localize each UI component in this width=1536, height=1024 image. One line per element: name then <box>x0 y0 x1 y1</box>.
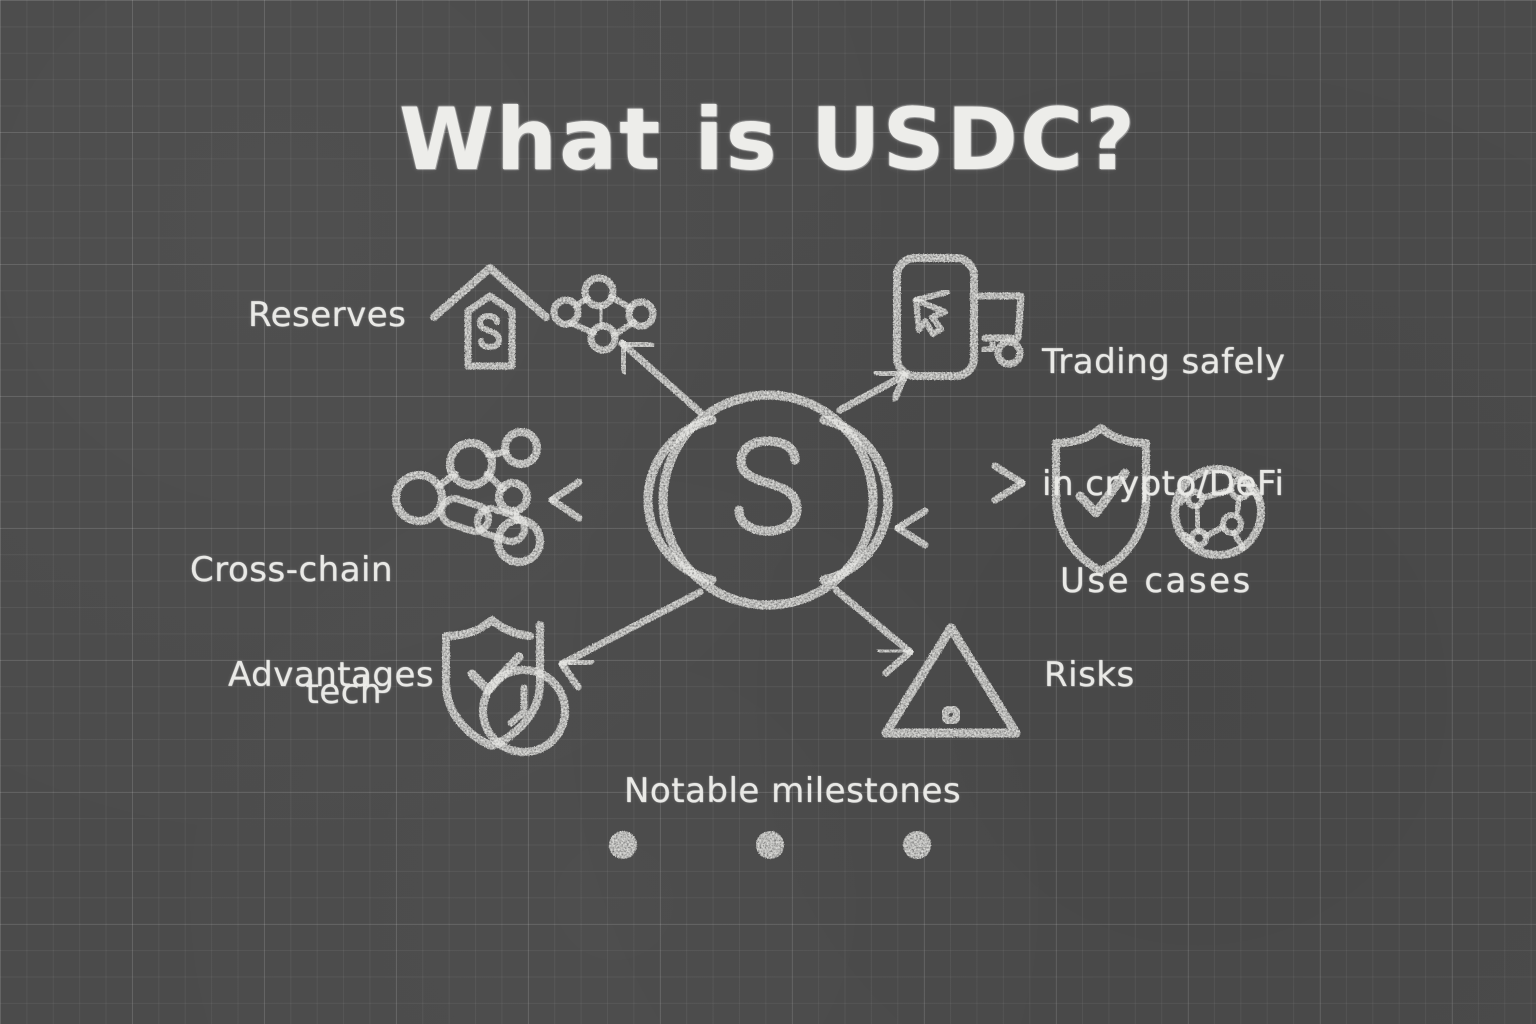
node-label-reserves: Reserves <box>248 296 406 334</box>
node-label-advantages: Advantages <box>228 656 434 694</box>
node-label-risks: Risks <box>1044 656 1135 694</box>
node-label-cross-chain: Cross-chain tech <box>190 468 382 794</box>
usdc-coin-icon <box>648 395 888 605</box>
shield-clock-icon <box>446 620 565 760</box>
cross-chain-molecule-icon <box>396 432 540 562</box>
arrow-to-risks <box>836 590 910 673</box>
node-label-trading: Trading safely in crypto/DeFi <box>1042 260 1286 586</box>
page-title: What is USDC? <box>0 92 1536 188</box>
phone-cart-icon <box>897 258 1021 376</box>
arrow-to-use-cases-right <box>890 466 1022 500</box>
node-label-milestones: Notable milestones <box>624 772 961 810</box>
arrow-to-reserves <box>622 343 700 412</box>
node-label-trading-line2: in crypto/DeFi <box>1042 464 1286 505</box>
arrow-to-use-cases-left <box>898 511 1030 545</box>
arrow-to-advantages <box>562 592 700 687</box>
bank-reserves-icon <box>424 268 556 380</box>
chalkboard-infographic: What is USDC? Reserves Trading safely in… <box>0 0 1536 1024</box>
node-label-trading-line1: Trading safely <box>1042 342 1286 383</box>
arrow-to-trading <box>840 372 905 410</box>
timeline-three-dots-icon <box>609 831 931 859</box>
arrow-to-cross-chain <box>552 482 648 518</box>
node-label-cross-chain-line1: Cross-chain <box>190 550 382 591</box>
network-nodes-icon <box>554 278 653 350</box>
node-label-use-cases: Use cases <box>1060 562 1253 600</box>
